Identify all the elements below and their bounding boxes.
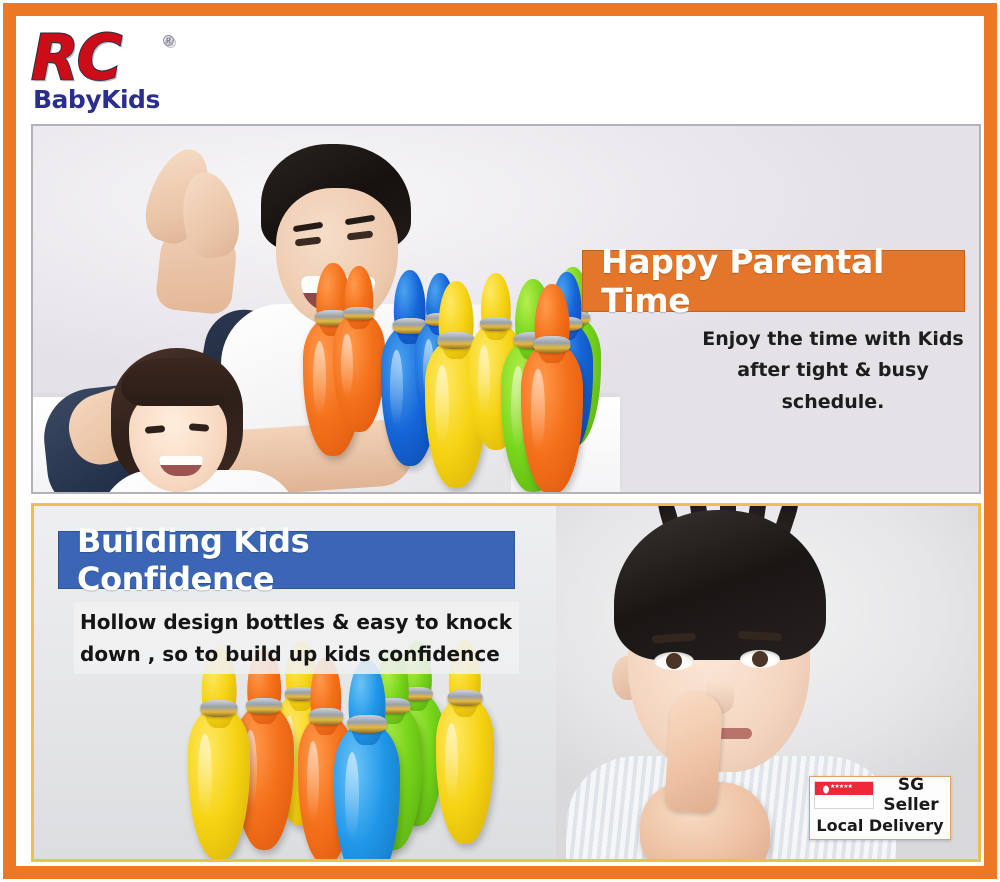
flag-white-band xyxy=(815,795,873,808)
pin-band xyxy=(480,317,512,331)
boy-pupil-left xyxy=(666,653,682,669)
pin-band xyxy=(246,698,282,714)
girl-eye-right xyxy=(189,423,209,431)
bottom-subtitle-line-2: down , so to build up kids confidence xyxy=(80,638,513,670)
brand-logo: RC ® BabyKids xyxy=(31,28,191,120)
bowling-pin-blue-b1 xyxy=(334,722,400,862)
boy-pupil-right xyxy=(752,651,768,667)
singapore-flag-icon: ★★★★★ xyxy=(814,781,874,809)
bottom-subtitle: Hollow design bottles & easy to knock do… xyxy=(74,602,519,674)
logo-primary-text: RC ® xyxy=(31,28,191,89)
sg-seller-badge: ★★★★★ SG Seller Local Delivery xyxy=(809,776,951,840)
pin-band xyxy=(309,708,343,725)
pin-highlight xyxy=(313,341,326,417)
pin-band xyxy=(448,690,483,706)
registered-trademark-icon: ® xyxy=(161,34,174,49)
pin-band xyxy=(347,715,387,733)
logo-rc-label: RC xyxy=(31,21,120,94)
sg-seller-label: SG Seller xyxy=(874,775,950,815)
sg-badge-top-row: ★★★★★ SG Seller xyxy=(810,777,950,813)
pin-highlight xyxy=(198,734,212,817)
top-banner-title: Happy Parental Time xyxy=(601,242,964,320)
thumbs-up-icon xyxy=(664,690,724,813)
pin-highlight xyxy=(445,723,458,803)
top-subtitle: Enjoy the time with Kids after tight & b… xyxy=(688,324,978,418)
crescent-icon xyxy=(820,785,829,794)
top-feature-panel: Happy Parental Time Enjoy the time with … xyxy=(31,124,981,494)
pin-highlight xyxy=(307,741,319,822)
top-banner: Happy Parental Time xyxy=(582,250,965,312)
pin-highlight xyxy=(390,350,403,427)
pin-band xyxy=(200,700,237,717)
top-subtitle-line-2: after tight & busy schedule. xyxy=(688,355,978,418)
top-subtitle-line-1: Enjoy the time with Kids xyxy=(688,324,978,355)
bottom-banner-title: Building Kids Confidence xyxy=(77,522,514,598)
pin-highlight xyxy=(345,752,360,841)
pin-highlight xyxy=(341,334,352,399)
pin-band xyxy=(437,332,474,349)
pin-highlight xyxy=(435,365,449,446)
boy-hair xyxy=(614,510,826,660)
stars-icon: ★★★★★ xyxy=(830,784,852,790)
pin-highlight xyxy=(478,345,490,414)
pin-highlight xyxy=(531,369,545,451)
girl-bangs xyxy=(121,358,233,406)
pin-band xyxy=(533,336,570,353)
bottom-subtitle-line-1: Hollow design bottles & easy to knock xyxy=(80,606,513,638)
bottom-banner: Building Kids Confidence xyxy=(58,531,515,589)
advertisement-frame: RC ® BabyKids xyxy=(3,3,997,879)
local-delivery-label: Local Delivery xyxy=(810,813,950,839)
pin-band xyxy=(343,307,374,320)
